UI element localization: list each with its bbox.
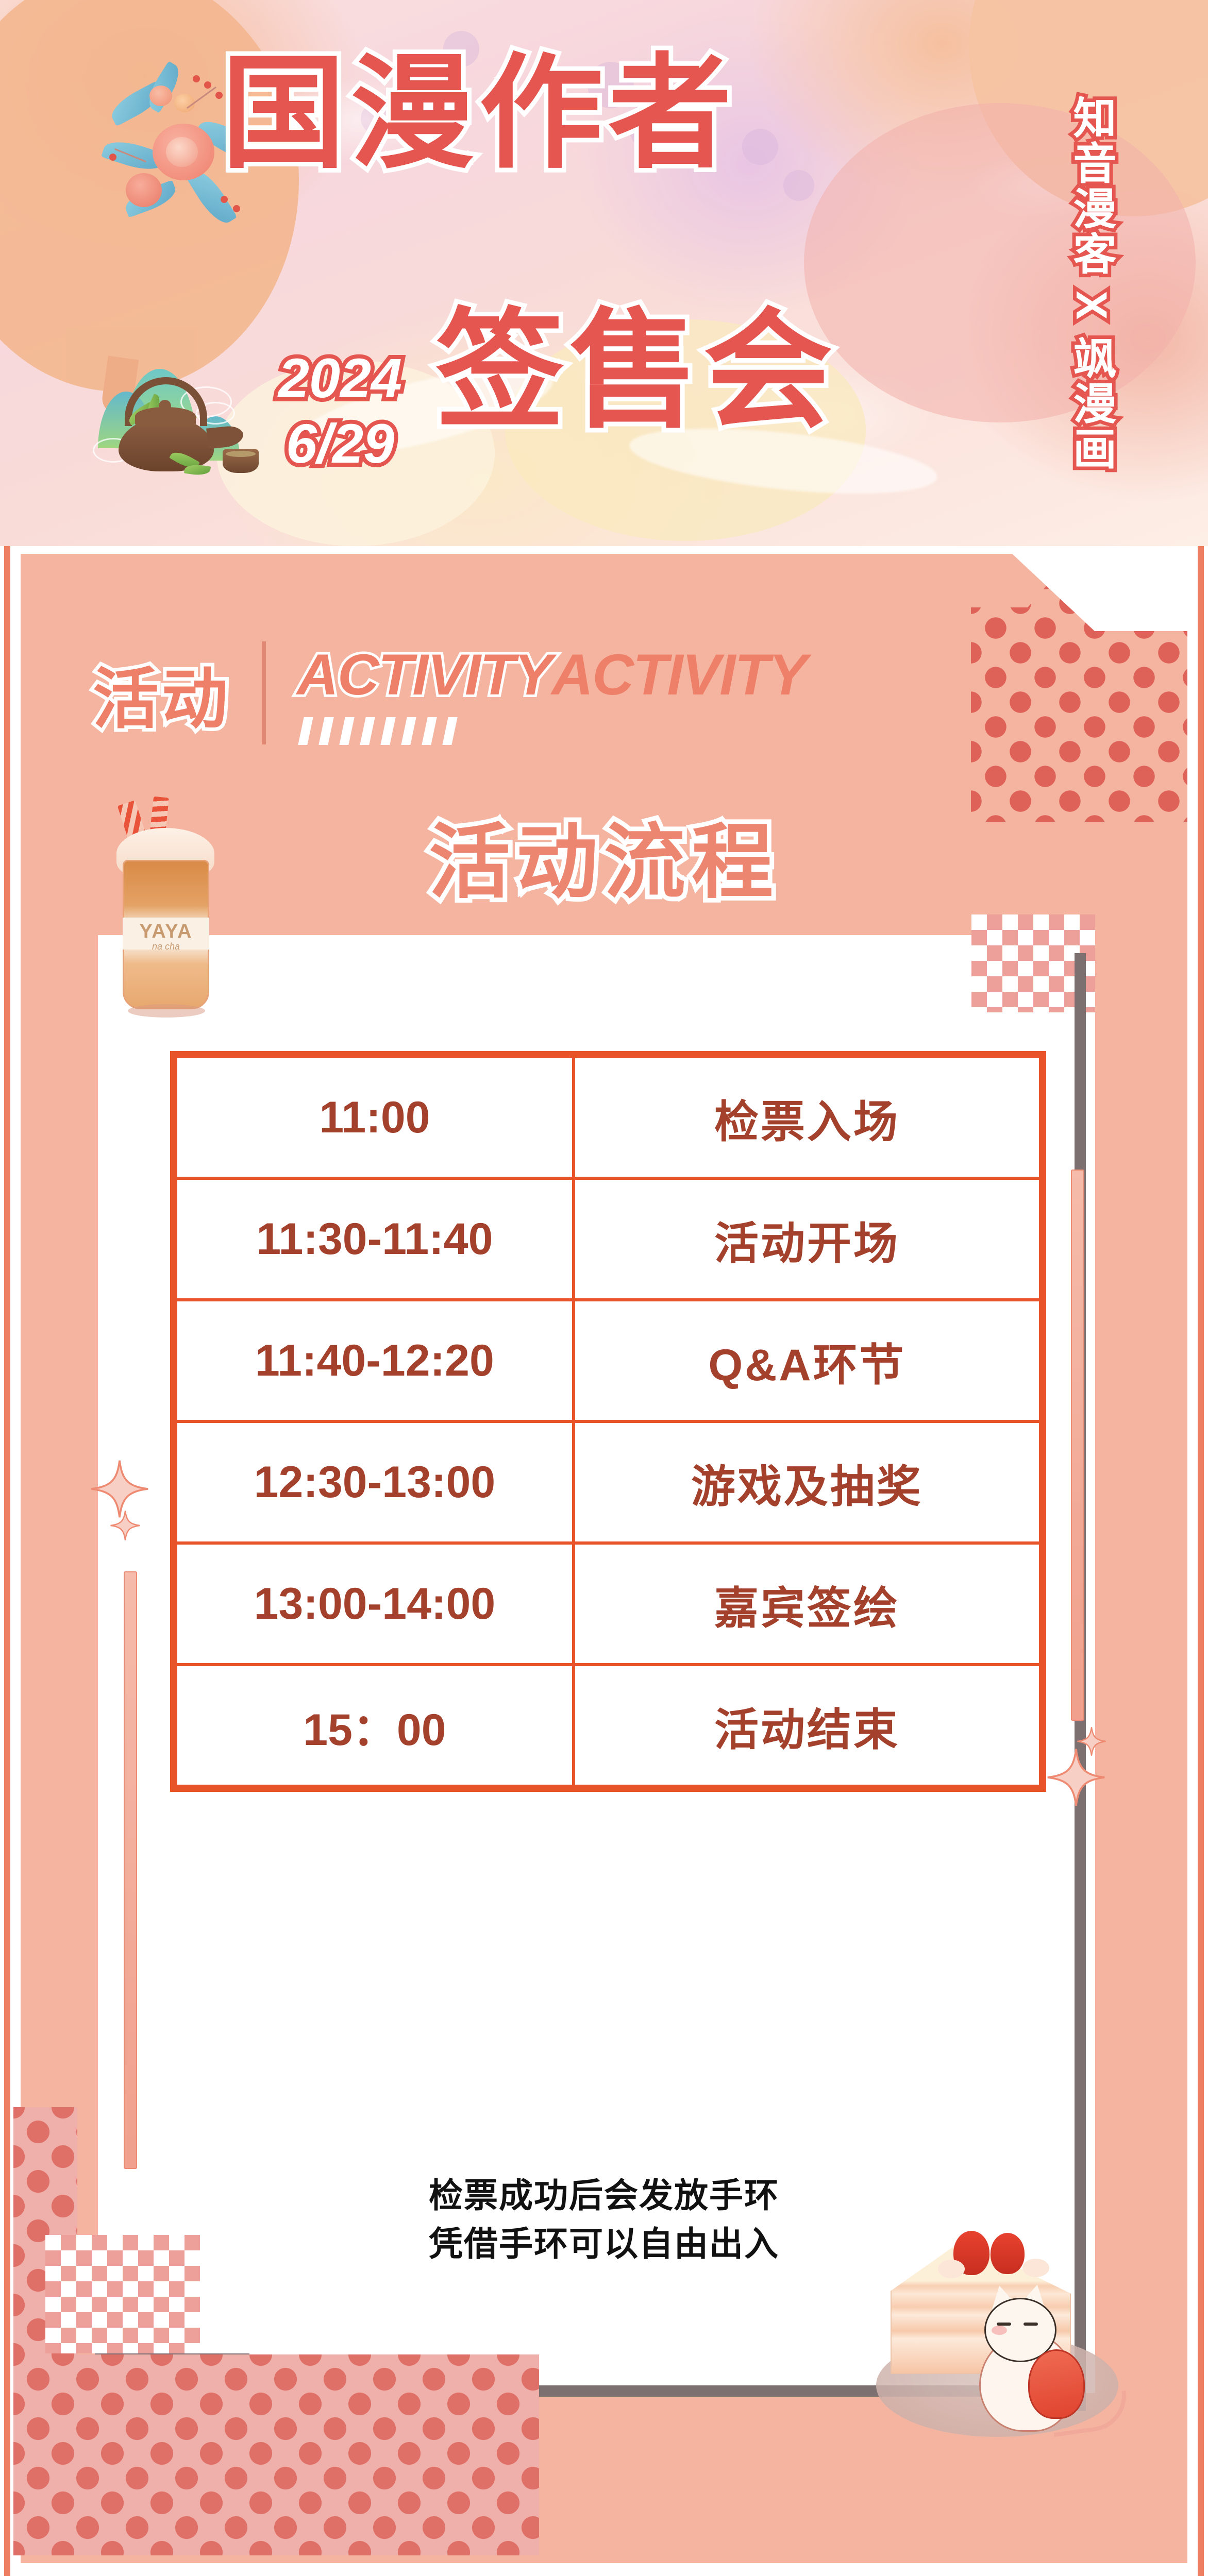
cat-illustration xyxy=(974,2293,1113,2442)
sparkle-icon-small xyxy=(1076,1726,1107,1757)
schedule-time: 12:30-13:00 xyxy=(176,1421,574,1543)
event-day: 6/29 xyxy=(260,411,420,476)
event-date: 2024 6/29 xyxy=(260,345,420,477)
polka-dot-decor-bottom-left xyxy=(13,2354,539,2555)
bokeh-dot xyxy=(783,170,814,201)
teapot-illustration xyxy=(88,340,258,489)
hero-banner: 国漫作者 国漫作者 签售会 签售会 2024 6/29 2024 6/29 知音… xyxy=(0,0,1208,546)
brand-lockup: 知音漫客 X 飒漫画 xyxy=(1023,67,1116,500)
activity-label-cn: 活动 xyxy=(93,646,231,741)
cup-label-main: YAYA xyxy=(123,921,209,943)
balloon-right xyxy=(804,103,1196,422)
cup-shadow xyxy=(128,1004,205,1018)
table-row[interactable]: 15：00 活动结束 xyxy=(176,1665,1041,1786)
strawberry-icon xyxy=(991,2233,1025,2274)
bokeh-dot xyxy=(742,129,778,165)
table-row[interactable]: 11:40-12:20 Q&A环节 xyxy=(176,1300,1041,1421)
poster-title-line2: 签售会 xyxy=(435,307,837,435)
vertical-bar-decor xyxy=(124,1571,137,2169)
tick-marks-decor xyxy=(301,717,551,745)
header-divider xyxy=(262,641,266,744)
schedule-item: 嘉宾签绘 xyxy=(574,1543,1041,1665)
schedule-item: 检票入场 xyxy=(574,1057,1041,1178)
table-row[interactable]: 11:30-11:40 活动开场 xyxy=(176,1178,1041,1300)
cup-label-sub: na cha xyxy=(123,941,209,952)
vertical-bar-decor xyxy=(1071,1170,1084,1721)
schedule-time: 15：00 xyxy=(176,1665,574,1786)
poster-canvas: 国漫作者 国漫作者 签售会 签售会 2024 6/29 2024 6/29 知音… xyxy=(0,0,1208,2576)
schedule-time: 11:40-12:20 xyxy=(176,1300,574,1421)
schedule-item: Q&A环节 xyxy=(574,1300,1041,1421)
milk-tea-cup-illustration: YAYA na cha xyxy=(98,796,237,1012)
cream-dollop xyxy=(1022,2259,1049,2277)
cream-dollop xyxy=(938,2260,965,2278)
schedule-table: 11:00 检票入场 11:30-11:40 活动开场 11:40-12:20 … xyxy=(170,1051,1046,1792)
activity-label-en-outline: ACTIVITY xyxy=(297,642,551,707)
schedule-time: 11:30-11:40 xyxy=(176,1178,574,1300)
activity-header: 活动 活动 ACTIVITY ACTIVITY xyxy=(93,631,551,755)
cat-eye xyxy=(1024,2323,1038,2326)
table-row[interactable]: 12:30-13:00 游戏及抽奖 xyxy=(176,1421,1041,1543)
cat-blush xyxy=(992,2326,1007,2335)
schedule-table-body: 11:00 检票入场 11:30-11:40 活动开场 11:40-12:20 … xyxy=(176,1057,1041,1786)
poster-title-line1: 国漫作者 xyxy=(222,52,737,175)
schedule-item: 活动开场 xyxy=(574,1178,1041,1300)
schedule-item: 游戏及抽奖 xyxy=(574,1421,1041,1543)
event-year: 2024 xyxy=(260,345,420,411)
schedule-item: 活动结束 xyxy=(574,1665,1041,1786)
footer-note-line1: 检票成功后会发放手环 xyxy=(0,2172,1208,2220)
left-edge-rule xyxy=(4,546,10,2576)
table-row[interactable]: 11:00 检票入场 xyxy=(176,1057,1041,1178)
right-edge-rule xyxy=(1198,546,1204,2576)
schedule-time: 13:00-14:00 xyxy=(176,1543,574,1665)
activity-label-en: ACTIVITY xyxy=(551,641,806,708)
schedule-time: 11:00 xyxy=(176,1057,574,1178)
strawberry-cake-illustration xyxy=(876,2231,1118,2452)
sparkle-icon-small xyxy=(109,1510,141,1541)
table-row[interactable]: 13:00-14:00 嘉宾签绘 xyxy=(176,1543,1041,1665)
